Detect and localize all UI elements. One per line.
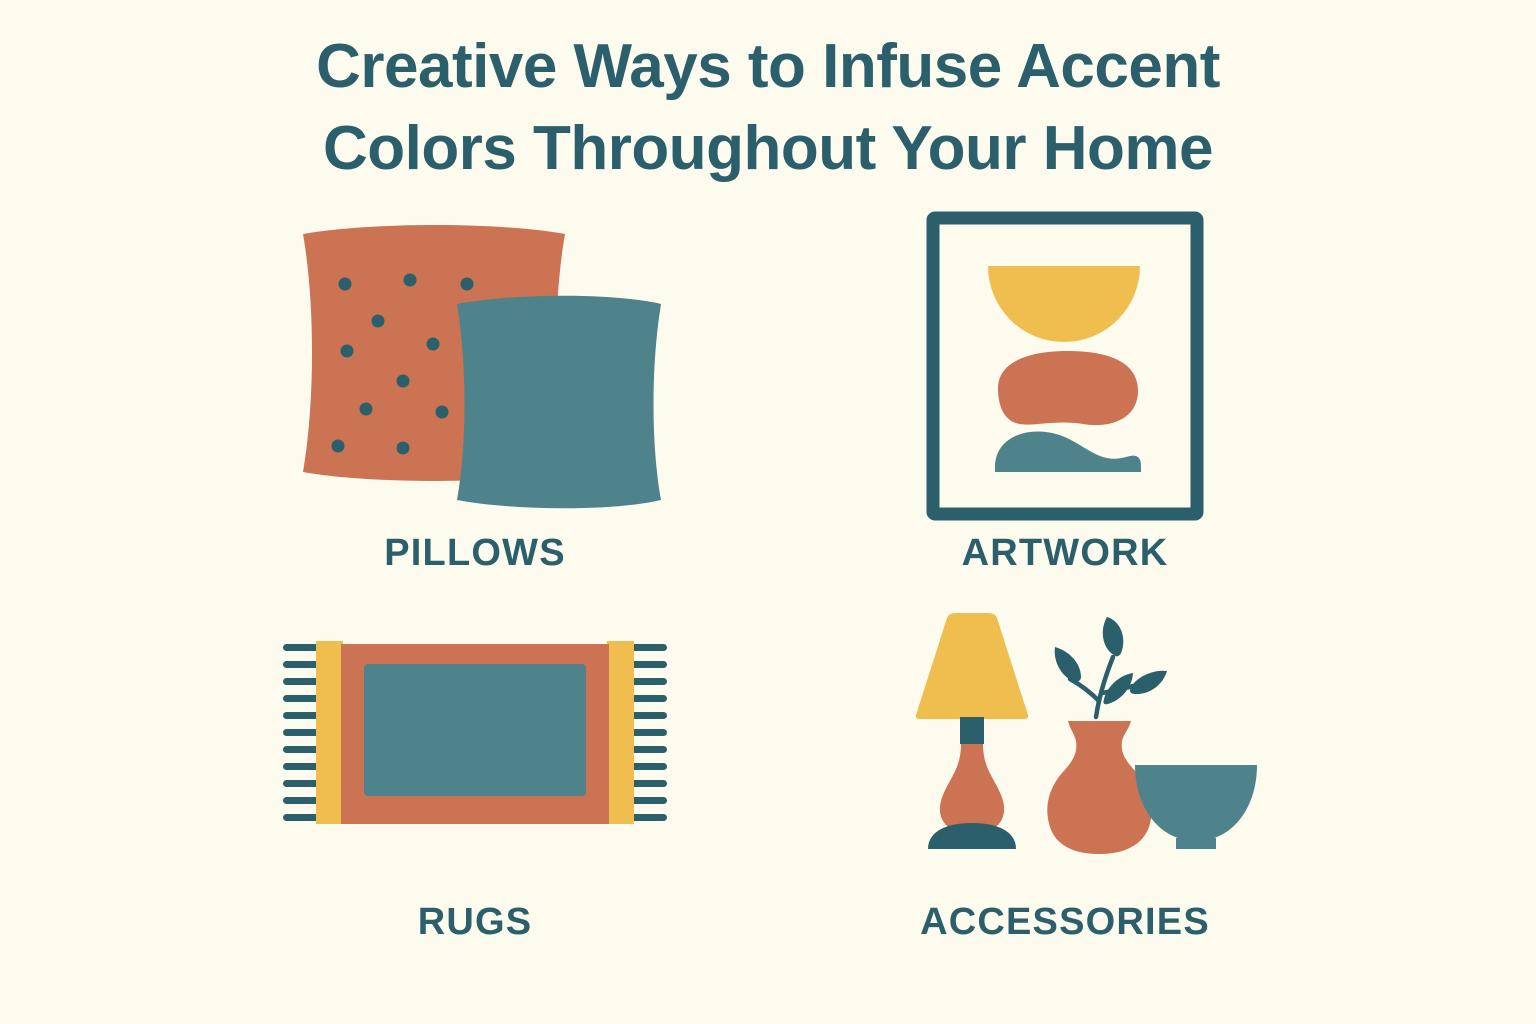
- rug-fringe: [629, 763, 667, 770]
- rug-fringe-right: [629, 644, 667, 821]
- artwork-svg: [925, 210, 1205, 522]
- category-card-artwork[interactable]: ARTWORK: [770, 210, 1360, 605]
- category-label-rugs: RUGS: [418, 901, 533, 944]
- bowl-foot: [1176, 838, 1216, 849]
- rug-fringe: [283, 746, 321, 753]
- pillows-illustration: [275, 210, 675, 522]
- pillow-dot: [332, 440, 345, 453]
- rug-fringe: [629, 780, 667, 787]
- pillow-dot: [339, 278, 352, 291]
- plant-branch-left: [1070, 679, 1099, 701]
- pillows-svg: [275, 216, 675, 516]
- rug-fringe: [629, 797, 667, 804]
- rug-illustration: [275, 605, 675, 855]
- rug-fringe: [283, 814, 321, 821]
- front-pillow-shape: [457, 296, 661, 509]
- rug-fringe: [283, 695, 321, 702]
- rug-svg: [275, 630, 675, 830]
- bowl: [1135, 765, 1257, 841]
- rug-fringe: [629, 661, 667, 668]
- pillow-dot: [397, 375, 410, 388]
- rug-fringe: [283, 797, 321, 804]
- rug-fringe: [629, 695, 667, 702]
- rug-fringe-left: [283, 644, 321, 821]
- page-title: Creative Ways to Infuse Accent Colors Th…: [0, 26, 1536, 191]
- pillow-dot: [372, 315, 385, 328]
- rug-fringe: [629, 644, 667, 651]
- category-label-artwork: ARTWORK: [962, 532, 1169, 575]
- category-label-pillows: PILLOWS: [384, 532, 566, 575]
- framed-artwork-illustration: [925, 210, 1205, 522]
- rug-fringe: [629, 678, 667, 685]
- category-card-rugs[interactable]: RUGS: [180, 605, 770, 1000]
- pillow-dot: [404, 274, 417, 287]
- page-title-line-2: Colors Throughout Your Home: [0, 108, 1536, 190]
- rug-fringe: [283, 678, 321, 685]
- category-card-pillows[interactable]: PILLOWS: [180, 210, 770, 605]
- pillow-dot: [397, 442, 410, 455]
- rug-fringe: [629, 729, 667, 736]
- category-card-accessories[interactable]: ACCESSORIES: [770, 605, 1360, 1000]
- bowl-icon: [1135, 765, 1257, 849]
- lamp-shade: [916, 613, 1028, 719]
- pillow-dot: [341, 345, 354, 358]
- orange-blob-shape: [998, 351, 1138, 425]
- rug-border-right: [607, 641, 634, 824]
- rug-fringe: [283, 729, 321, 736]
- infographic-canvas: Creative Ways to Infuse Accent Colors Th…: [0, 0, 1536, 1024]
- rug-fringe: [283, 780, 321, 787]
- rug-fringe: [283, 644, 321, 651]
- category-grid: PILLOWS ARTWORK: [180, 210, 1360, 1000]
- plant-leaf: [1103, 617, 1124, 656]
- table-lamp-icon: [916, 613, 1028, 849]
- rug-border-left: [316, 641, 343, 824]
- page-title-line-1: Creative Ways to Infuse Accent: [0, 26, 1536, 108]
- rug-center-panel: [364, 664, 586, 796]
- pillow-dot: [360, 403, 373, 416]
- rug-fringe: [283, 763, 321, 770]
- plant-leaf: [1055, 647, 1081, 682]
- lamp-neck: [960, 717, 984, 744]
- pillow-dot: [436, 406, 449, 419]
- rug-fringe: [629, 746, 667, 753]
- pillow-dot: [427, 338, 440, 351]
- rug-fringe: [283, 661, 321, 668]
- rug-fringe: [629, 814, 667, 821]
- category-label-accessories: ACCESSORIES: [920, 901, 1210, 944]
- rug-fringe: [283, 712, 321, 719]
- vase: [1047, 721, 1151, 854]
- rug-fringe: [629, 712, 667, 719]
- vase-with-plant-icon: [1047, 617, 1167, 854]
- accessories-illustration: [865, 605, 1265, 855]
- lamp-body: [940, 744, 1004, 834]
- pillow-dot: [461, 278, 474, 291]
- accessories-svg: [865, 605, 1265, 855]
- plant-leaf: [1130, 671, 1167, 694]
- lamp-base: [928, 823, 1016, 849]
